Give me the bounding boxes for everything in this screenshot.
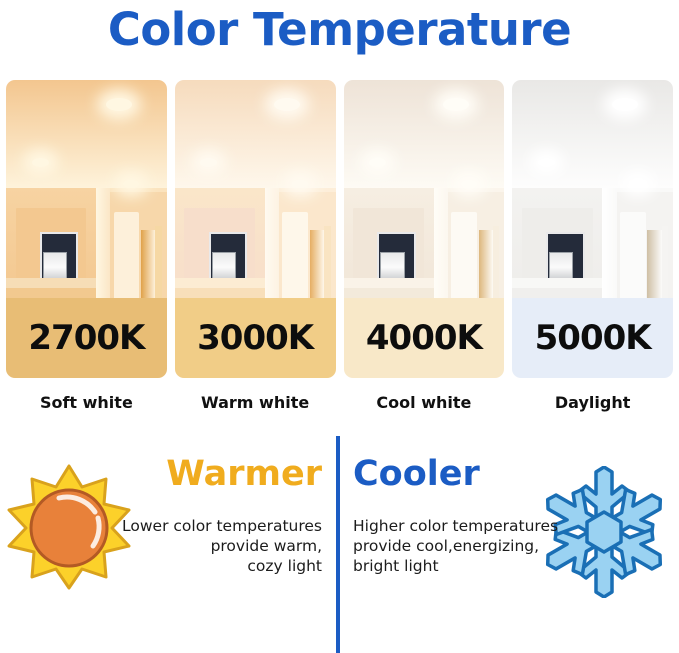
kelvin-strip: 5000K (512, 298, 673, 378)
ceiling (344, 80, 505, 198)
pillar (602, 188, 616, 298)
hallway-wall (620, 212, 646, 298)
warmer-section: Warmer Lower color temperatures provide … (0, 452, 330, 576)
room-scene (344, 80, 505, 298)
door-edge (324, 226, 330, 298)
warmer-heading: Warmer (0, 452, 330, 496)
ceiling (6, 80, 167, 198)
door-edge (662, 226, 668, 298)
downlight-icon (538, 158, 555, 167)
door-edge (155, 226, 161, 298)
color-temperature-panels: 2700K 3000K (6, 80, 673, 378)
cooler-section: Cooler Higher color temperatures provide… (345, 452, 679, 576)
kelvin-strip: 2700K (6, 298, 167, 378)
television-screen (212, 252, 236, 280)
hallway-wall (451, 212, 477, 298)
warmer-description: Lower color temperatures provide warm, c… (0, 516, 330, 576)
ceiling (175, 80, 336, 198)
counter-front (6, 288, 96, 298)
caption-cool-white: Cool white (344, 392, 505, 422)
downlight-icon (461, 180, 477, 188)
wooden-door (647, 230, 661, 298)
kelvin-strip: 4000K (344, 298, 505, 378)
hallway-wall (282, 212, 308, 298)
page-title: Color Temperature (0, 2, 679, 58)
counter-front (175, 288, 265, 298)
television-screen (549, 252, 573, 280)
caption-warm-white: Warm white (175, 392, 336, 422)
kelvin-label: 3000K (197, 321, 313, 355)
wooden-door (310, 230, 324, 298)
door-edge (493, 226, 499, 298)
television-screen (380, 252, 404, 280)
room-scene (175, 80, 336, 298)
pillar (265, 188, 279, 298)
kelvin-label: 5000K (535, 321, 651, 355)
kelvin-label: 4000K (366, 321, 482, 355)
cooler-description: Higher color temperatures provide cool,e… (345, 516, 679, 576)
panel-2700k[interactable]: 2700K (6, 80, 167, 378)
downlight-icon (292, 180, 308, 188)
television-screen (43, 252, 67, 280)
wooden-door (479, 230, 493, 298)
panel-4000k[interactable]: 4000K (344, 80, 505, 378)
wooden-door (141, 230, 155, 298)
downlight-icon (630, 180, 646, 188)
panel-5000k[interactable]: 5000K (512, 80, 673, 378)
counter-front (512, 288, 602, 298)
counter-front (344, 288, 434, 298)
hallway-wall (114, 212, 140, 298)
downlight-icon (443, 98, 469, 111)
ceiling (512, 80, 673, 198)
kelvin-strip: 3000K (175, 298, 336, 378)
caption-soft-white: Soft white (6, 392, 167, 422)
room-scene (6, 80, 167, 298)
pillar (434, 188, 448, 298)
room-scene (512, 80, 673, 298)
downlight-icon (612, 98, 638, 111)
vertical-divider (336, 436, 340, 653)
downlight-icon (106, 98, 132, 111)
downlight-icon (32, 158, 49, 167)
panel-captions: Soft white Warm white Cool white Dayligh… (6, 392, 673, 422)
pillar (96, 188, 110, 298)
cooler-heading: Cooler (345, 452, 679, 496)
kelvin-label: 2700K (28, 321, 144, 355)
panel-3000k[interactable]: 3000K (175, 80, 336, 378)
caption-daylight: Daylight (512, 392, 673, 422)
